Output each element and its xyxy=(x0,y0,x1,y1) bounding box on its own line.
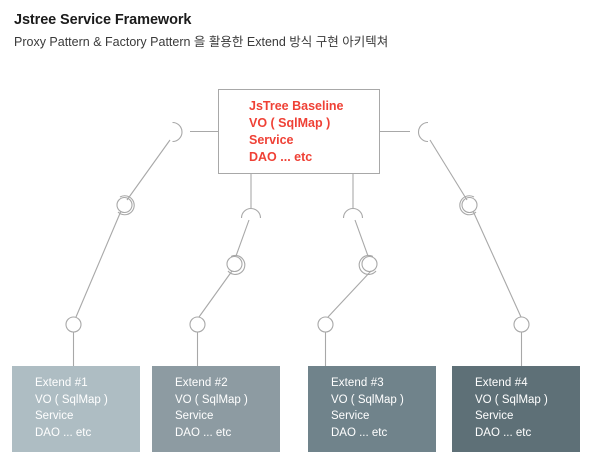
baseline-component-text: JsTree Baseline VO ( SqlMap ) Service DA… xyxy=(249,98,375,166)
ball-midleft xyxy=(227,257,242,272)
ball-extend-4 xyxy=(514,317,529,332)
extend-component-text-3: Extend #3 VO ( SqlMap ) Service DAO ... … xyxy=(331,375,433,441)
extend-3-line-dao: DAO ... etc xyxy=(331,425,433,442)
baseline-line-vo: VO ( SqlMap ) xyxy=(249,115,375,132)
extend-1-line-service: Service xyxy=(35,408,137,425)
ball-left xyxy=(117,198,132,213)
connector-left-lower xyxy=(76,211,121,317)
socket-arc-left xyxy=(118,196,134,215)
connector-right-lower xyxy=(473,211,521,317)
connector-midleft-upper xyxy=(236,220,249,256)
ball-midright xyxy=(362,257,377,272)
extend-4-line-service: Service xyxy=(475,408,577,425)
extend-3-line-vo: VO ( SqlMap ) xyxy=(331,392,433,409)
extend-4-line-title: Extend #4 xyxy=(475,375,577,392)
socket-left xyxy=(173,123,183,142)
extend-component-text-1: Extend #1 VO ( SqlMap ) Service DAO ... … xyxy=(35,375,137,441)
baseline-line-title: JsTree Baseline xyxy=(249,98,375,115)
socket-midleft xyxy=(242,209,261,219)
ball-extend-3 xyxy=(318,317,333,332)
extend-1-line-vo: VO ( SqlMap ) xyxy=(35,392,137,409)
extend-1-line-dao: DAO ... etc xyxy=(35,425,137,442)
extend-component-text-2: Extend #2 VO ( SqlMap ) Service DAO ... … xyxy=(175,375,277,441)
socket-arc-midright xyxy=(359,255,376,274)
extend-4-line-dao: DAO ... etc xyxy=(475,425,577,442)
extend-2-line-service: Service xyxy=(175,408,277,425)
extend-3-line-service: Service xyxy=(331,408,433,425)
baseline-line-service: Service xyxy=(249,132,375,149)
ball-right xyxy=(462,198,477,213)
socket-arc-right xyxy=(460,196,476,215)
ball-extend-1 xyxy=(66,317,81,332)
connector-midright-upper xyxy=(355,220,368,256)
extend-component-text-4: Extend #4 VO ( SqlMap ) Service DAO ... … xyxy=(475,375,577,441)
extend-1-line-title: Extend #1 xyxy=(35,375,137,392)
ball-extend-2 xyxy=(190,317,205,332)
extend-2-line-dao: DAO ... etc xyxy=(175,425,277,442)
baseline-line-dao: DAO ... etc xyxy=(249,149,375,166)
extend-4-line-vo: VO ( SqlMap ) xyxy=(475,392,577,409)
socket-arc-midleft xyxy=(228,255,245,274)
connector-left-upper xyxy=(127,140,170,200)
extend-component-box-4[interactable]: Extend #4 VO ( SqlMap ) Service DAO ... … xyxy=(452,366,580,452)
connector-midright-lower xyxy=(328,271,371,317)
connector-midleft-lower xyxy=(199,271,232,317)
extend-2-line-title: Extend #2 xyxy=(175,375,277,392)
baseline-component-box[interactable]: JsTree Baseline VO ( SqlMap ) Service DA… xyxy=(218,89,380,174)
connector-right-upper xyxy=(430,140,467,200)
extend-2-line-vo: VO ( SqlMap ) xyxy=(175,392,277,409)
extend-component-box-2[interactable]: Extend #2 VO ( SqlMap ) Service DAO ... … xyxy=(152,366,280,452)
extend-3-line-title: Extend #3 xyxy=(331,375,433,392)
extend-component-box-3[interactable]: Extend #3 VO ( SqlMap ) Service DAO ... … xyxy=(308,366,436,452)
socket-midright xyxy=(344,209,363,219)
extend-component-box-1[interactable]: Extend #1 VO ( SqlMap ) Service DAO ... … xyxy=(12,366,140,452)
socket-right xyxy=(419,123,429,142)
architecture-diagram: JsTree Baseline VO ( SqlMap ) Service DA… xyxy=(0,0,602,462)
